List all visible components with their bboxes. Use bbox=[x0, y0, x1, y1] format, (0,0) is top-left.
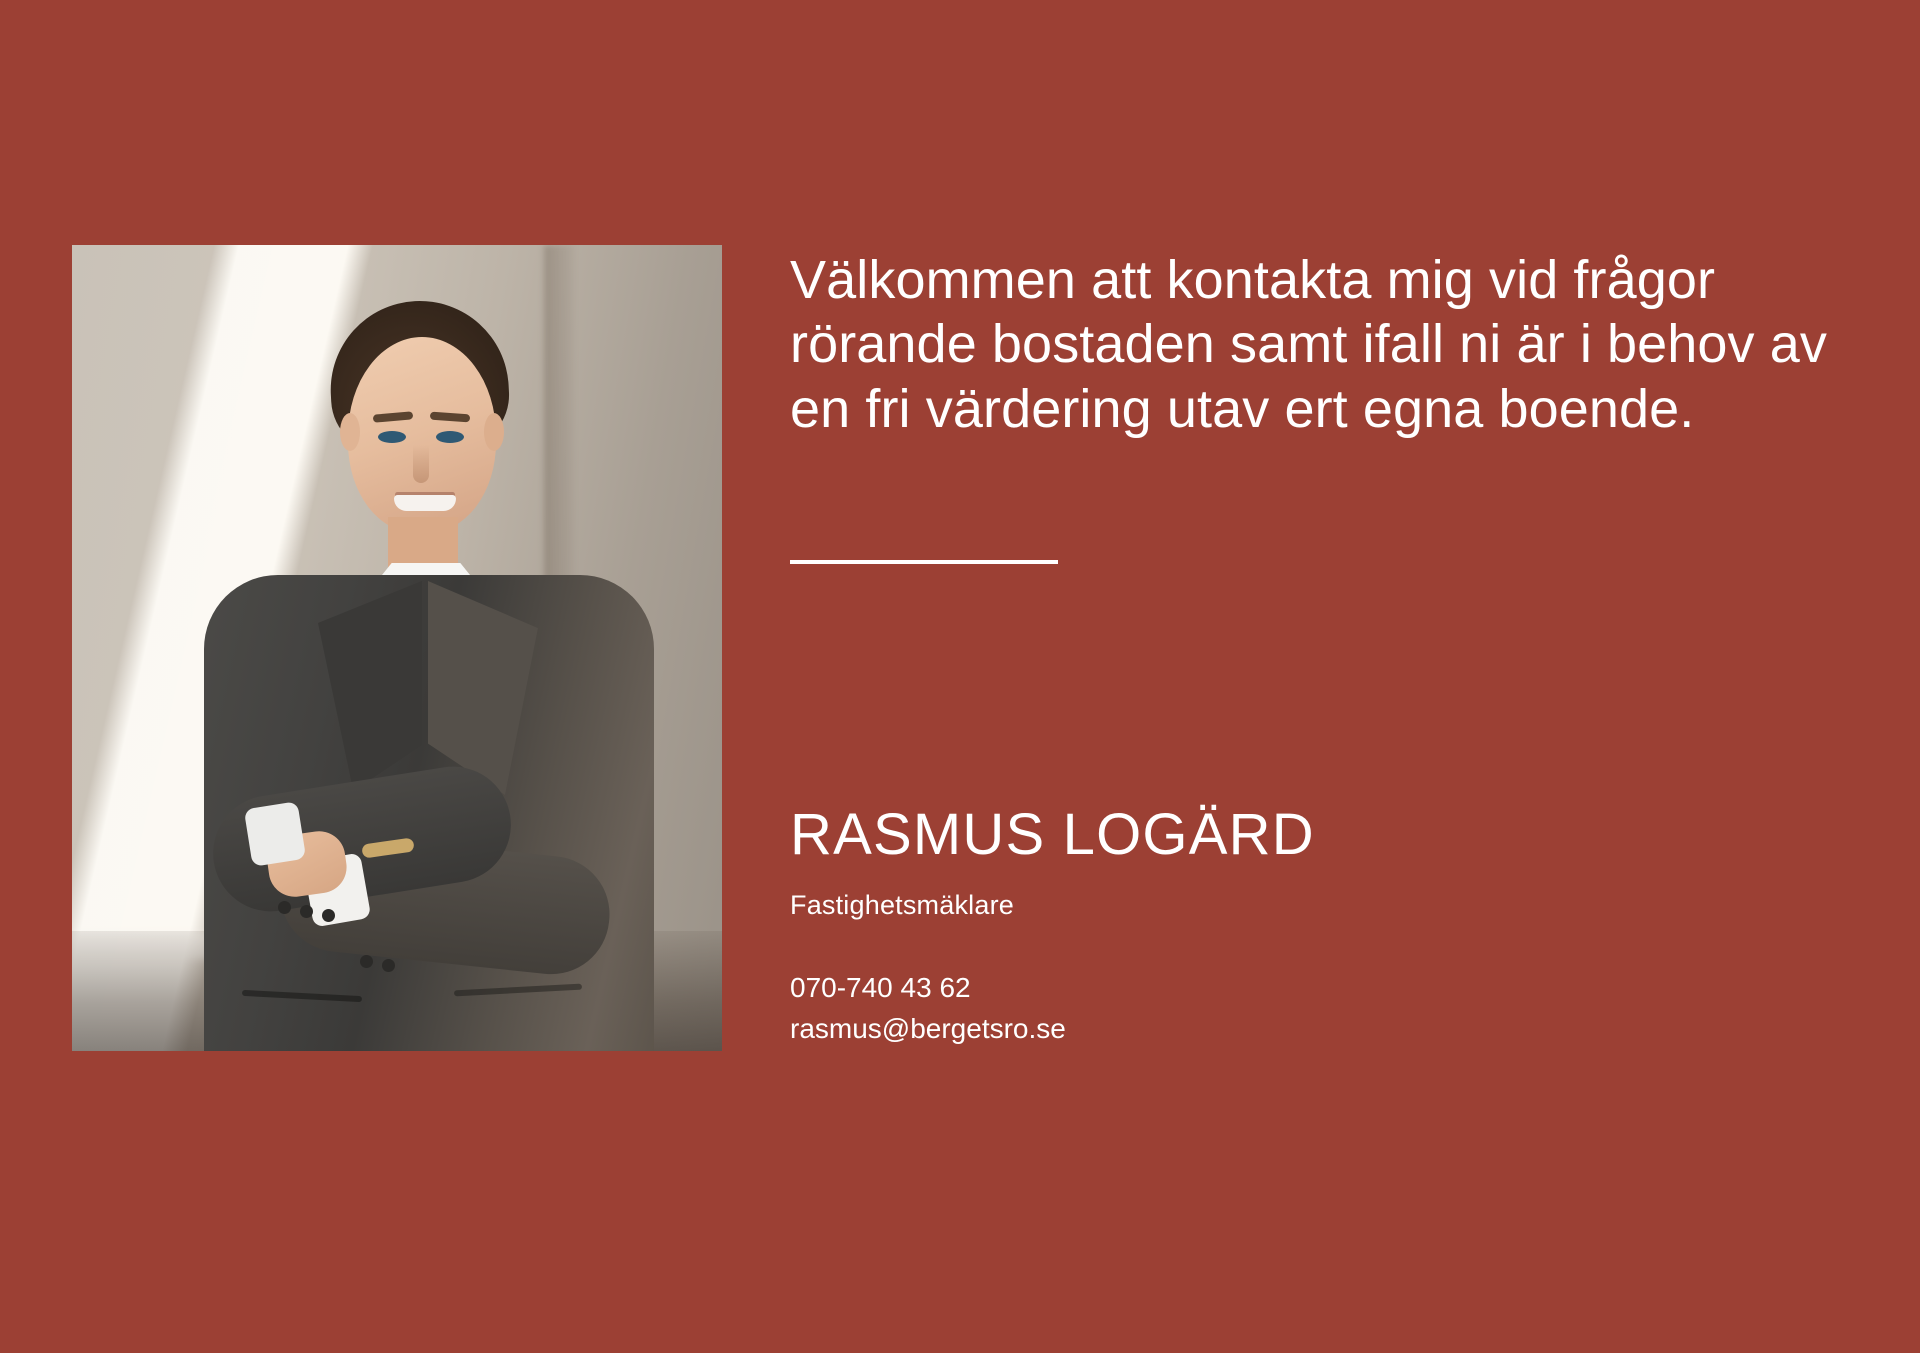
agent-email[interactable]: rasmus@bergetsro.se bbox=[790, 1009, 1066, 1050]
agent-name: RASMUS LOGÄRD bbox=[790, 806, 1315, 864]
agent-portrait bbox=[72, 245, 722, 1051]
headline-message: Välkommen att kontakta mig vid frågor rö… bbox=[790, 248, 1830, 441]
contact-card: Välkommen att kontakta mig vid frågor rö… bbox=[0, 0, 1920, 1353]
footer: BERGETS RO™ FASTIGHETSFÖRMEDLING BERGETS… bbox=[0, 1153, 1920, 1353]
agent-phone[interactable]: 070-740 43 62 bbox=[790, 968, 1066, 1009]
agent-role: Fastighetsmäklare bbox=[790, 892, 1014, 919]
portrait-figure bbox=[72, 245, 722, 1051]
agent-contact-block: 070-740 43 62 rasmus@bergetsro.se bbox=[790, 968, 1066, 1049]
divider-rule bbox=[790, 560, 1058, 564]
